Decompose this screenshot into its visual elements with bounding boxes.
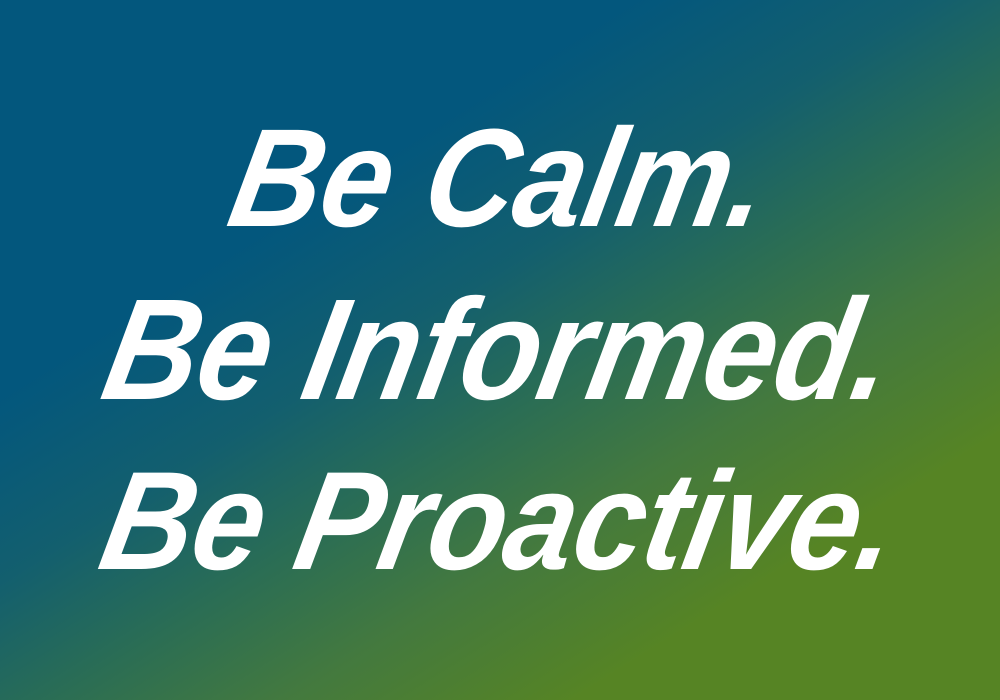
headline-block: Be Calm. Be Informed. Be Proactive. xyxy=(0,0,1000,700)
promo-banner: Be Calm. Be Informed. Be Proactive. xyxy=(0,0,1000,700)
headline-line-be-proactive: Be Proactive. xyxy=(91,451,909,591)
headline-line-be-calm: Be Calm. xyxy=(220,109,780,249)
headline-line-be-informed: Be Informed. xyxy=(94,278,906,422)
